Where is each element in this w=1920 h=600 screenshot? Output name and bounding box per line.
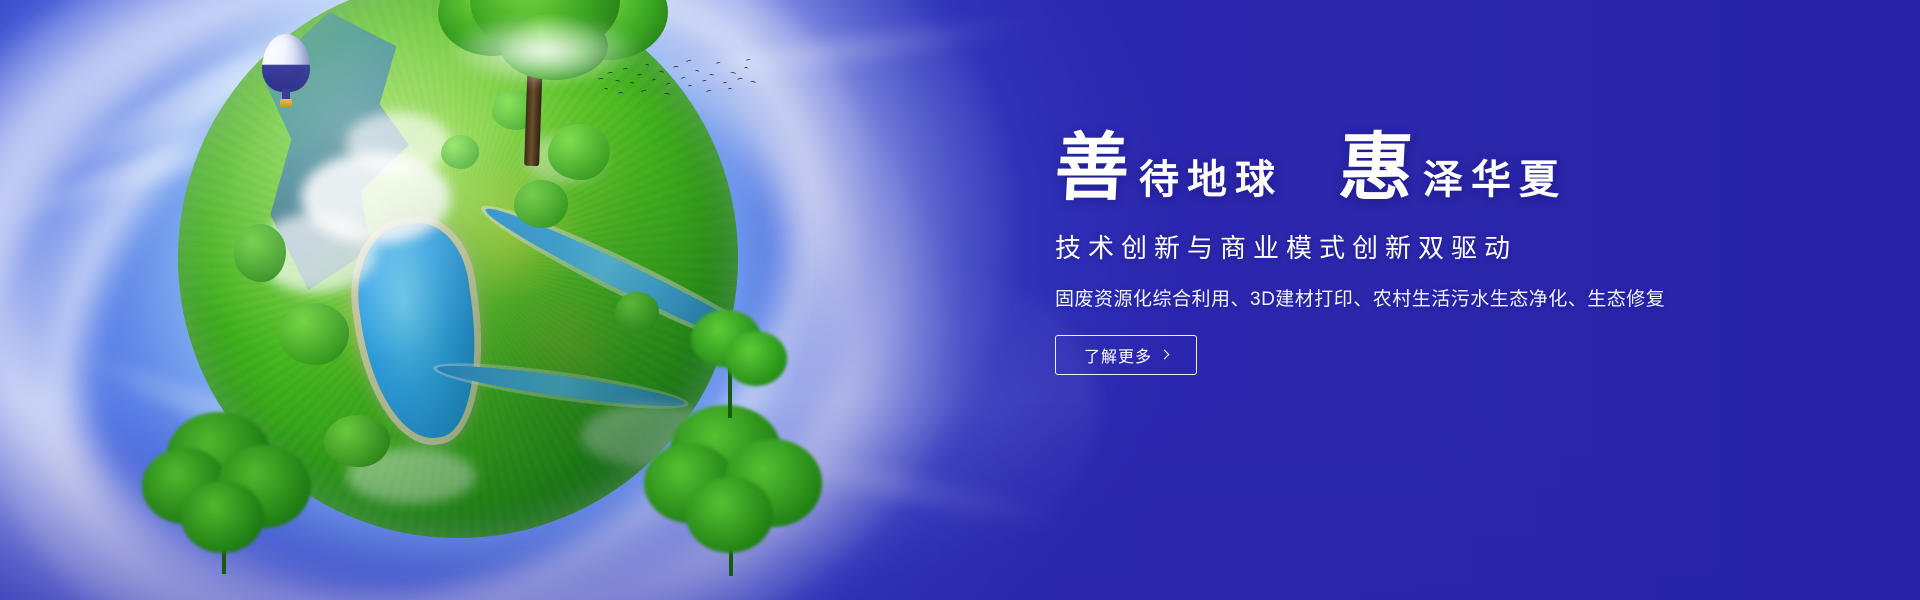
balloon-basket bbox=[280, 99, 292, 108]
bird-icon bbox=[637, 74, 642, 78]
headline-char-1: 善 bbox=[1053, 132, 1131, 206]
bird-icon bbox=[630, 82, 635, 86]
bird-icon bbox=[695, 70, 700, 74]
bird-icon bbox=[598, 78, 604, 81]
bird-icon bbox=[737, 78, 743, 82]
hero-banner: 善 待地球 惠 泽华夏 技术创新与商业模式创新双驱动 固废资源化综合利用、3D建… bbox=[0, 0, 1920, 600]
headline-char-2: 惠 bbox=[1337, 132, 1415, 206]
bird-icon bbox=[709, 74, 714, 78]
bird-icon bbox=[730, 71, 737, 75]
bird-icon bbox=[716, 61, 722, 65]
tree-icon bbox=[138, 398, 318, 578]
bird-icon bbox=[746, 58, 752, 62]
bird-icon bbox=[615, 79, 621, 83]
bird-icon bbox=[659, 71, 664, 75]
bird-icon bbox=[652, 79, 656, 83]
learn-more-label: 了解更多 bbox=[1084, 343, 1152, 367]
tree-canopy bbox=[686, 477, 773, 553]
bird-icon bbox=[744, 67, 748, 70]
bird-icon bbox=[728, 88, 732, 91]
bird-icon bbox=[706, 89, 713, 94]
banner-content: 善 待地球 惠 泽华夏 技术创新与商业模式创新双驱动 固废资源化综合利用、3D建… bbox=[1055, 132, 1815, 375]
bird-icon bbox=[641, 89, 648, 94]
bird-flock-icon bbox=[596, 52, 756, 100]
hot-air-balloon-icon bbox=[262, 34, 310, 110]
tree-icon bbox=[672, 300, 792, 420]
balloon-envelope bbox=[262, 34, 310, 92]
headline-text-2: 泽华夏 bbox=[1423, 160, 1567, 206]
bird-icon bbox=[607, 72, 613, 76]
chevron-right-icon bbox=[1160, 350, 1170, 360]
bird-icon bbox=[623, 68, 628, 71]
bird-icon bbox=[723, 82, 727, 85]
bird-icon bbox=[750, 80, 757, 84]
headline-text-1: 待地球 bbox=[1139, 160, 1283, 206]
banner-subtitle: 技术创新与商业模式创新双驱动 bbox=[1055, 228, 1815, 265]
bird-icon bbox=[604, 88, 608, 91]
bird-icon bbox=[666, 82, 672, 86]
banner-description: 固废资源化综合利用、3D建材打印、农村生活污水生态净化、生态修复 bbox=[1055, 284, 1815, 311]
bird-icon bbox=[686, 59, 693, 64]
bird-icon bbox=[702, 80, 707, 84]
tree-canopy bbox=[725, 331, 787, 386]
bird-icon bbox=[645, 64, 650, 68]
bird-icon bbox=[664, 93, 670, 97]
bird-icon bbox=[681, 76, 687, 80]
bird-icon bbox=[673, 66, 679, 69]
bird-icon bbox=[688, 85, 692, 88]
bird-icon bbox=[618, 92, 623, 95]
page-title: 善 待地球 惠 泽华夏 bbox=[1055, 132, 1815, 206]
learn-more-button[interactable]: 了解更多 bbox=[1055, 335, 1197, 375]
tree-canopy bbox=[181, 481, 264, 553]
